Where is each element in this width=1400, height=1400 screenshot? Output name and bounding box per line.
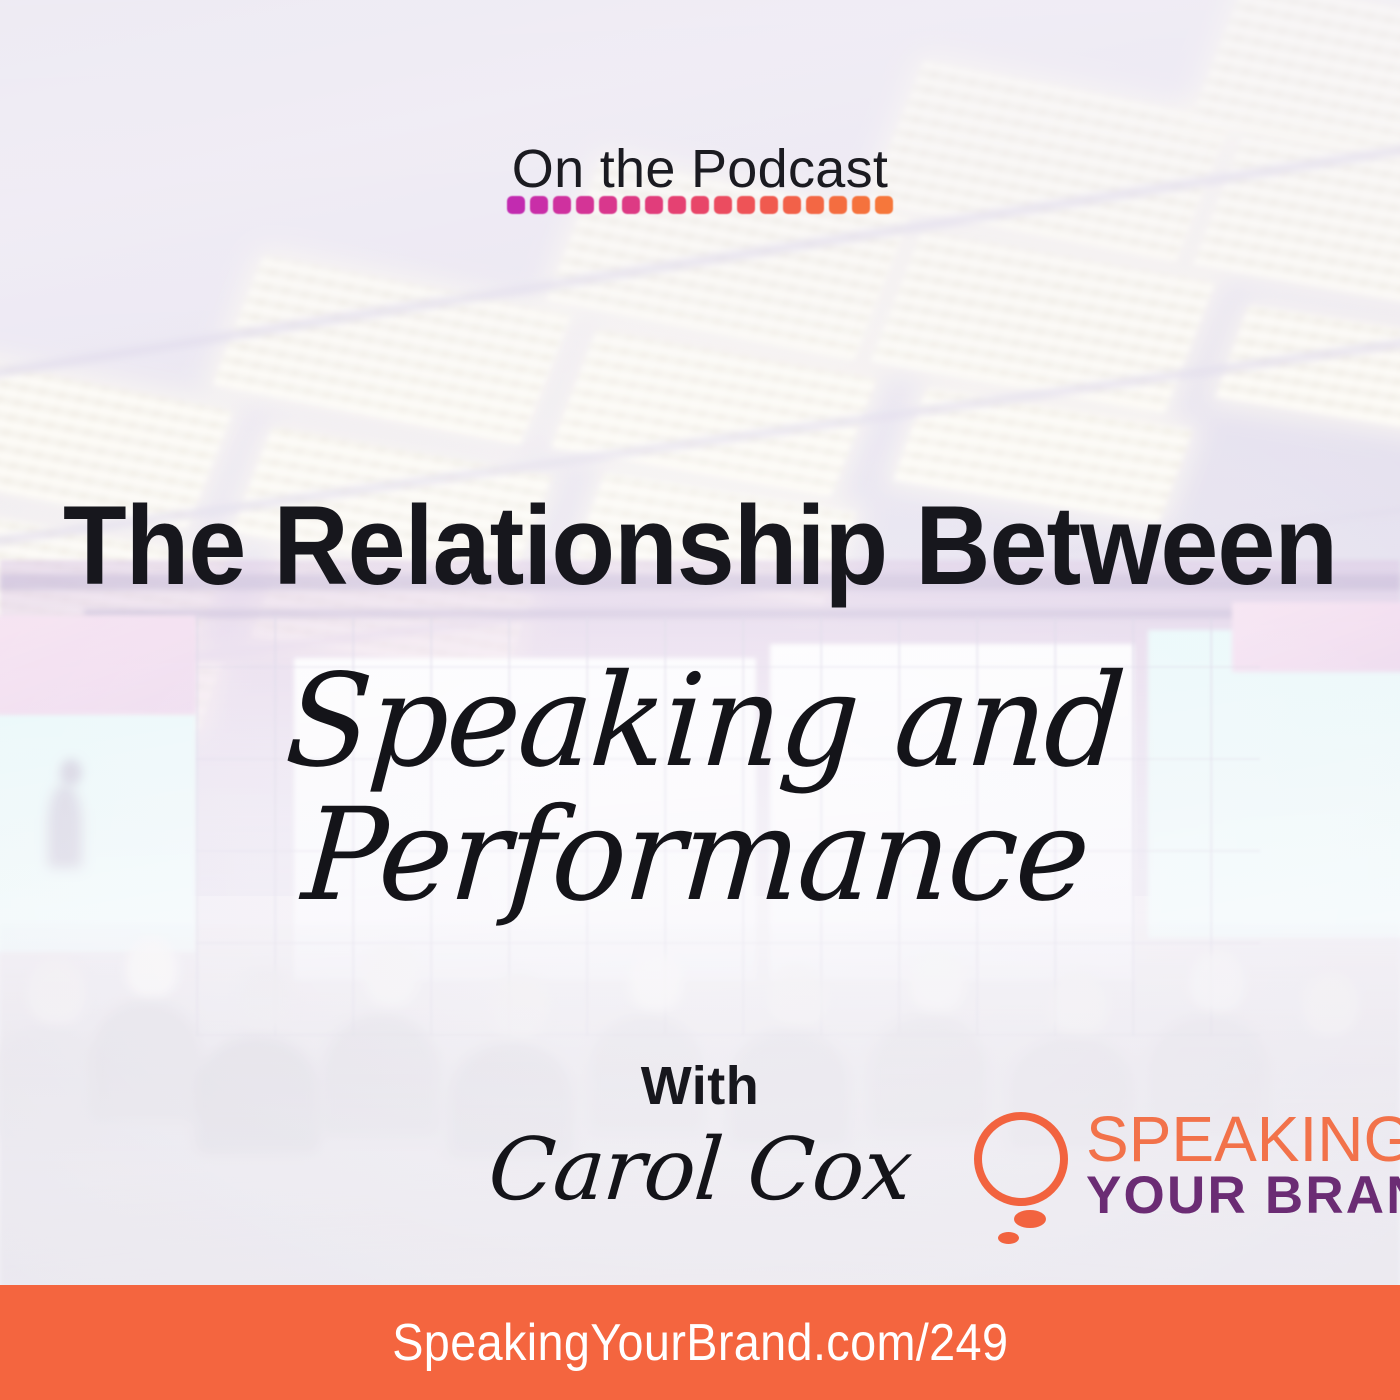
divider-dot <box>783 196 801 214</box>
divider-dot <box>668 196 686 214</box>
eyebrow-label: On the Podcast <box>0 138 1400 200</box>
divider-dot <box>852 196 870 214</box>
divider-dot <box>737 196 755 214</box>
divider-dot <box>829 196 847 214</box>
divider-dot <box>530 196 548 214</box>
episode-title-line2: Speaking and Performance <box>12 655 1388 924</box>
episode-url: SpeakingYourBrand.com/249 <box>392 1313 1008 1373</box>
divider-dot <box>599 196 617 214</box>
divider-dot <box>645 196 663 214</box>
divider-dot <box>691 196 709 214</box>
logo-word-your-brand-text: YOUR BRAND <box>1086 1166 1400 1225</box>
speech-bubble-dot-small-icon <box>998 1232 1019 1244</box>
divider-dot <box>553 196 571 214</box>
logo-wordmark: SPEAKING YOUR BRAND® <box>1086 1106 1400 1222</box>
speech-bubble-dot-large-icon <box>1014 1210 1046 1228</box>
podcast-cover-image: On the Podcast The Relationship Between … <box>0 0 1400 1400</box>
logo-word-speaking: SPEAKING <box>1086 1110 1400 1169</box>
cover-content: On the Podcast The Relationship Between … <box>0 0 1400 1400</box>
divider-dot <box>507 196 525 214</box>
speech-bubble-ring-icon <box>974 1112 1068 1206</box>
divider-dot <box>806 196 824 214</box>
divider-dot <box>760 196 778 214</box>
speech-bubble-icon <box>968 1106 1080 1240</box>
logo-word-your-brand: YOUR BRAND® <box>1086 1169 1400 1222</box>
episode-title-line1: The Relationship Between <box>49 490 1351 602</box>
footer-bar: SpeakingYourBrand.com/249 <box>0 1285 1400 1400</box>
divider-dot <box>576 196 594 214</box>
dot-divider <box>0 196 1400 214</box>
divider-dot <box>622 196 640 214</box>
speaking-your-brand-logo: SPEAKING YOUR BRAND® <box>968 1106 1368 1246</box>
divider-dot <box>875 196 893 214</box>
divider-dot <box>714 196 732 214</box>
